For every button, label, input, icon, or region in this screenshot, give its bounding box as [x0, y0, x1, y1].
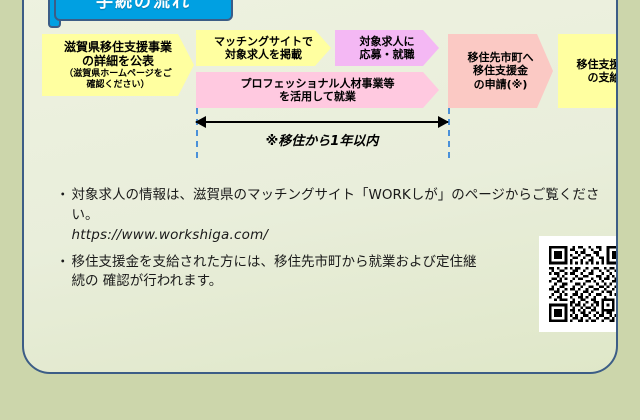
note-2-body: 移住支援金を支給された方には、移住先市町から就業および定住継続の 確認が行われま… — [72, 253, 487, 292]
flow-step-publish-note2: 確認ください） — [86, 80, 149, 91]
flow-step-matching-line2: 対象求人を掲載 — [225, 48, 302, 61]
flow-step-publish-line2: の詳細を公表 — [82, 54, 154, 69]
flow-step-request-line3: の申請(※) — [474, 78, 528, 91]
note-item-2: ・ 移住支援金を支給された方には、移住先市町から就業および定住継続の 確認が行わ… — [56, 253, 486, 292]
note-item-1: ・ 対象求人の情報は、滋賀県のマッチングサイト「WORKしが」のページからご覧く… — [56, 186, 608, 246]
notes-section: ・ 対象求人の情報は、滋賀県のマッチングサイト「WORKしが」のページからご覧く… — [56, 186, 608, 299]
flow-step-apply-line1: 対象求人に — [360, 35, 415, 48]
flow-step-subsidy-request[interactable]: 移住先市町へ 移住支援金 の申請(※) — [448, 34, 553, 108]
qr-code-icon — [549, 246, 618, 322]
double-arrow-icon — [196, 121, 448, 123]
flow-step-matching-site[interactable]: マッチングサイトで 対象求人を掲載 — [196, 30, 331, 66]
span-duration-label: ※移住から1年以内 — [196, 130, 448, 149]
flow-step-apply-line2: 応募・就職 — [360, 48, 415, 61]
flow-step-request-line2: 移住支援金 — [473, 64, 528, 77]
flow-step-subsidy-payment[interactable]: 移住支援金 の支給 — [558, 34, 618, 108]
flow-step-payment-line1: 移住支援金 — [577, 58, 619, 71]
workshiga-url[interactable]: https://www.workshiga.com/ — [72, 226, 609, 246]
flow-step-matching-line1: マッチングサイトで — [214, 35, 313, 48]
flow-step-publish-line1: 滋賀県移住支援事業 — [64, 40, 172, 55]
qr-code[interactable] — [539, 236, 618, 332]
flow-step-request-line1: 移住先市町へ — [468, 51, 534, 64]
flow-step-publish-note1: （滋賀県ホームページをご — [64, 69, 172, 80]
note-1-text: 対象求人の情報は、滋賀県のマッチングサイト「WORKしが」のページからご覧くださ… — [72, 187, 600, 223]
bullet-icon: ・ — [56, 186, 70, 206]
note-1-body: 対象求人の情報は、滋賀県のマッチングサイト「WORKしが」のページからご覧くださ… — [72, 186, 609, 246]
flow-step-publish[interactable]: 滋賀県移住支援事業 の詳細を公表 （滋賀県ホームページをご 確認ください） — [42, 34, 194, 96]
note-2-line2: 確認が行われます。 — [103, 273, 222, 289]
flow-step-professional-line2: を活用して就業 — [279, 90, 356, 103]
page-title: 手続の流れ — [54, 0, 233, 21]
flow-step-professional-program[interactable]: プロフェッショナル人材事業等 を活用して就業 — [196, 72, 439, 108]
flow-step-professional-line1: プロフェッショナル人材事業等 — [241, 77, 395, 90]
flow-step-payment-line2: の支給 — [588, 71, 619, 84]
flow-panel: 手続の流れ 滋賀県移住支援事業 の詳細を公表 （滋賀県ホームページをご 確認くだ… — [22, 0, 618, 374]
bullet-icon: ・ — [56, 253, 70, 273]
flow-step-apply-job[interactable]: 対象求人に 応募・就職 — [335, 30, 439, 66]
